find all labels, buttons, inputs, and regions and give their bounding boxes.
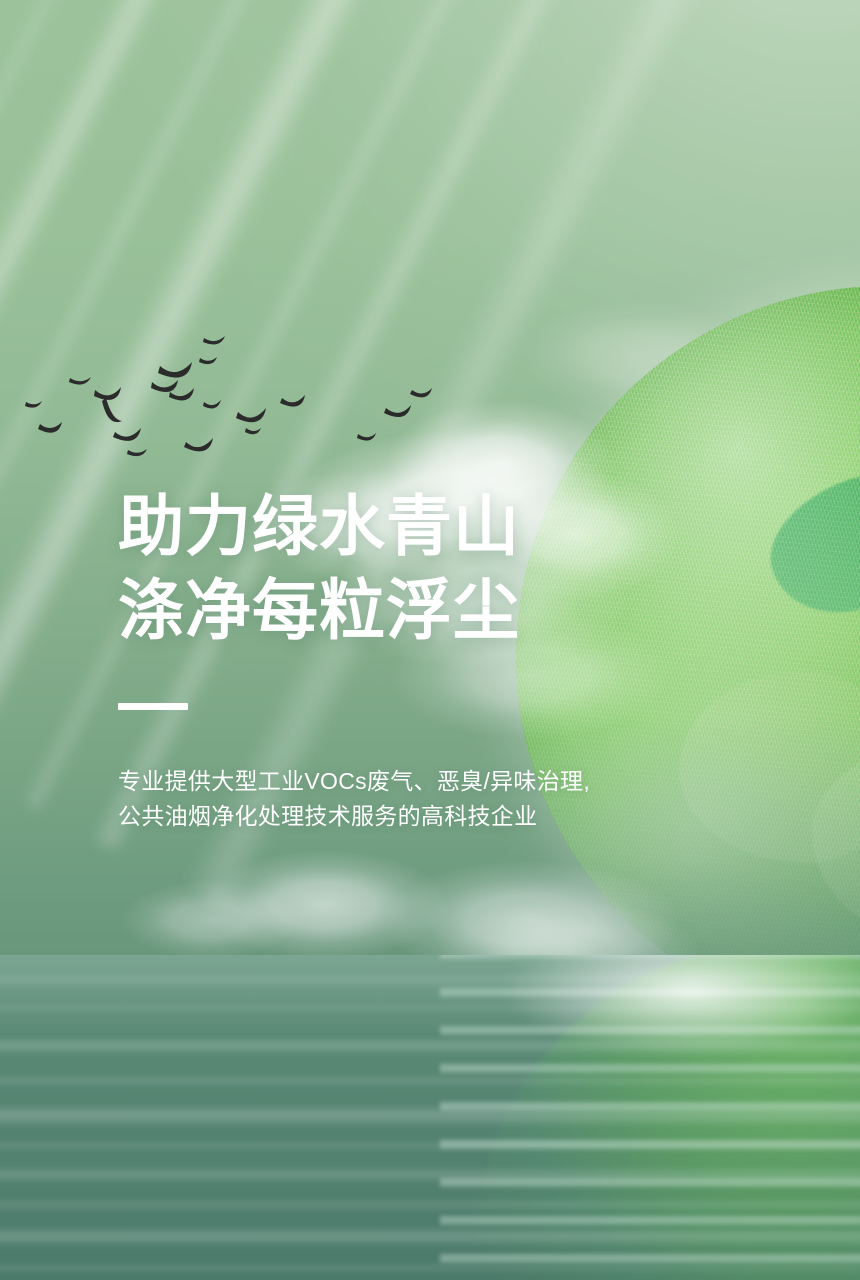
subtext-line-1: 专业提供大型工业VOCs废气、恶臭/异味治理, (118, 764, 678, 799)
headline: 助力绿水青山 涤净每粒浮尘 (118, 484, 678, 653)
continent-shape (679, 671, 860, 863)
water-ripple (0, 1105, 860, 1127)
cloud (520, 300, 750, 410)
subtext: 专业提供大型工业VOCs废气、恶臭/异味治理, 公共油烟净化处理技术服务的高科技… (118, 764, 678, 834)
subtext-line-2: 公共油烟净化处理技术服务的高科技企业 (118, 799, 678, 834)
water-ripple (0, 1003, 860, 1013)
light-ray (0, 0, 266, 542)
water-ripple (0, 1037, 860, 1055)
birds-icon (0, 330, 470, 460)
flying-birds-flock (0, 330, 470, 460)
continent-shape (812, 745, 860, 937)
continent-shape (844, 306, 860, 503)
water-ripple (0, 1167, 860, 1183)
water-ripple (0, 1141, 860, 1151)
cloud (120, 880, 300, 960)
headline-divider (118, 703, 188, 710)
water-ripple (0, 1199, 860, 1211)
water-ripple (0, 1227, 860, 1247)
poster-text-block: 助力绿水青山 涤净每粒浮尘 专业提供大型工业VOCs废气、恶臭/异味治理, 公共… (118, 484, 678, 834)
eco-banner-poster: 助力绿水青山 涤净每粒浮尘 专业提供大型工业VOCs废气、恶臭/异味治理, 公共… (0, 0, 860, 1280)
headline-line-2: 涤净每粒浮尘 (118, 568, 678, 652)
water-ripple (0, 973, 860, 987)
water-ripple (0, 1075, 860, 1087)
water-surface (0, 955, 860, 1280)
headline-line-1: 助力绿水青山 (118, 484, 678, 568)
water-ripple (0, 1263, 860, 1273)
cloud (200, 850, 450, 960)
continent-shape (752, 449, 860, 633)
